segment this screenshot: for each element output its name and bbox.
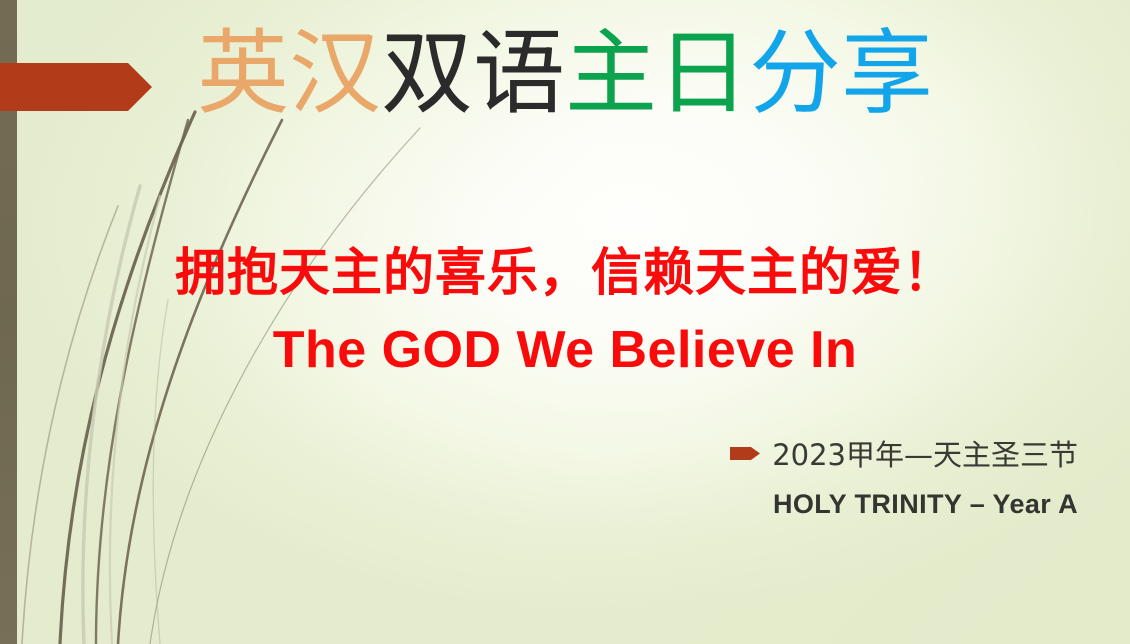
subtitle-block: 2023甲年—天主圣三节 HOLY TRINITY – Year A bbox=[730, 432, 1078, 520]
arrow-pennant-icon bbox=[730, 445, 760, 462]
subtitle-chinese-text: 2023甲年—天主圣三节 bbox=[772, 432, 1078, 474]
title-segment-orange: 英汉 bbox=[197, 20, 381, 127]
arrow-pennant-glyph bbox=[730, 445, 760, 462]
slide-canvas: 英汉双语主日分享 拥抱天主的喜乐，信赖天主的爱！ The GOD We Beli… bbox=[0, 0, 1130, 644]
title-segment-green: 主日 bbox=[565, 20, 749, 127]
title-segment-dark: 双语 bbox=[381, 20, 565, 127]
main-heading-english: The GOD We Believe In bbox=[0, 321, 1130, 379]
page-title: 英汉双语主日分享 bbox=[0, 28, 1130, 120]
subtitle-line-english: HOLY TRINITY – Year A bbox=[730, 489, 1078, 520]
title-segment-blue: 分享 bbox=[749, 20, 933, 127]
main-heading-chinese: 拥抱天主的喜乐，信赖天主的爱！ bbox=[0, 246, 1130, 301]
subtitle-line-chinese: 2023甲年—天主圣三节 bbox=[730, 432, 1078, 474]
